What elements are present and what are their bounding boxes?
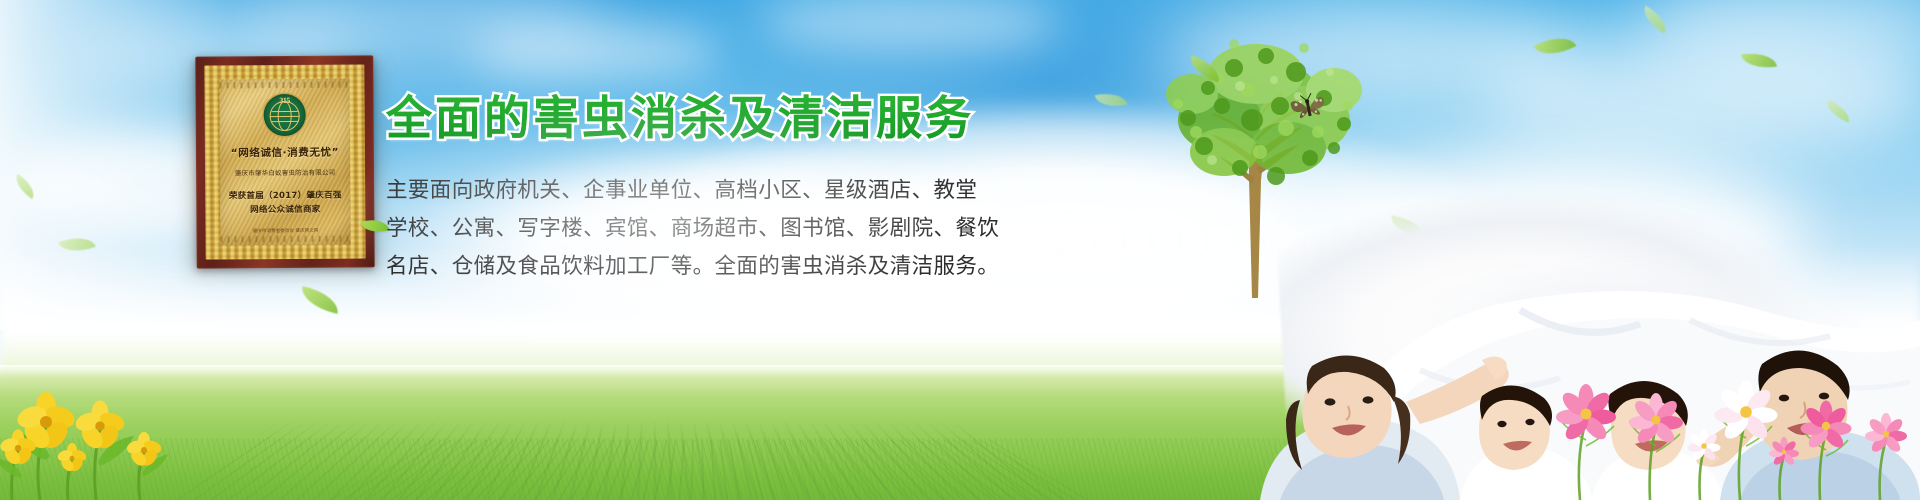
plaque-dot-row-bottom [221, 236, 351, 243]
plaque-issuer-footer: 肇庆市消费者委员会 肇庆网文网 [253, 227, 319, 233]
plaque-gold-plate: 315 “网络诚信·消费无忧” 肇庆市肇华白蚁害虫防治有限公司 荣获首届（201… [219, 79, 350, 246]
pink-flowers-svg [1500, 270, 1920, 500]
butterfly-icon [1288, 92, 1330, 124]
promo-banner: 315 “网络诚信·消费无忧” 肇庆市肇华白蚁害虫防治有限公司 荣获首届（201… [0, 0, 1920, 500]
plaque-dot-row-top [219, 82, 349, 89]
315-logo-icon: 315 [264, 94, 306, 136]
description-line-1: 主要面向政府机关、企事业单位、高档小区、星级酒店、教堂 [386, 172, 956, 210]
plaque-title: “网络诚信·消费无忧” [231, 145, 339, 161]
description-line-3: 名店、仓储及食品饮料加工厂等。全面的害虫消杀及清洁服务。 [386, 248, 956, 286]
cloud-wisp [470, 22, 720, 80]
flower-icon [0, 392, 163, 473]
award-plaque: 315 “网络诚信·消费无忧” 肇庆市肇华白蚁害虫防治有限公司 荣获首届（201… [195, 55, 374, 268]
plaque-company-name: 肇庆市肇华白蚁害虫防治有限公司 [235, 167, 336, 178]
plaque-award-line-2: 网络公众诚信商家 [250, 204, 320, 217]
banner-headline: 全面的害虫消杀及清洁服务 [386, 82, 974, 148]
yellow-flowers-svg [0, 310, 300, 500]
globe-latitude-upper [271, 111, 298, 112]
flower-icon [1556, 381, 1907, 467]
globe-equator [270, 116, 300, 117]
description-line-2: 学校、公寓、写字楼、宾馆、商场超市、图书馆、影剧院、餐饮 [386, 210, 956, 248]
plaque-award-line-1: 荣获首届（2017）肇庆百强 [229, 190, 342, 203]
globe-latitude-lower [271, 121, 298, 122]
banner-description: 主要面向政府机关、企事业单位、高档小区、星级酒店、教堂 学校、公寓、写字楼、宾馆… [386, 172, 956, 286]
butterfly-svg [1288, 92, 1330, 124]
